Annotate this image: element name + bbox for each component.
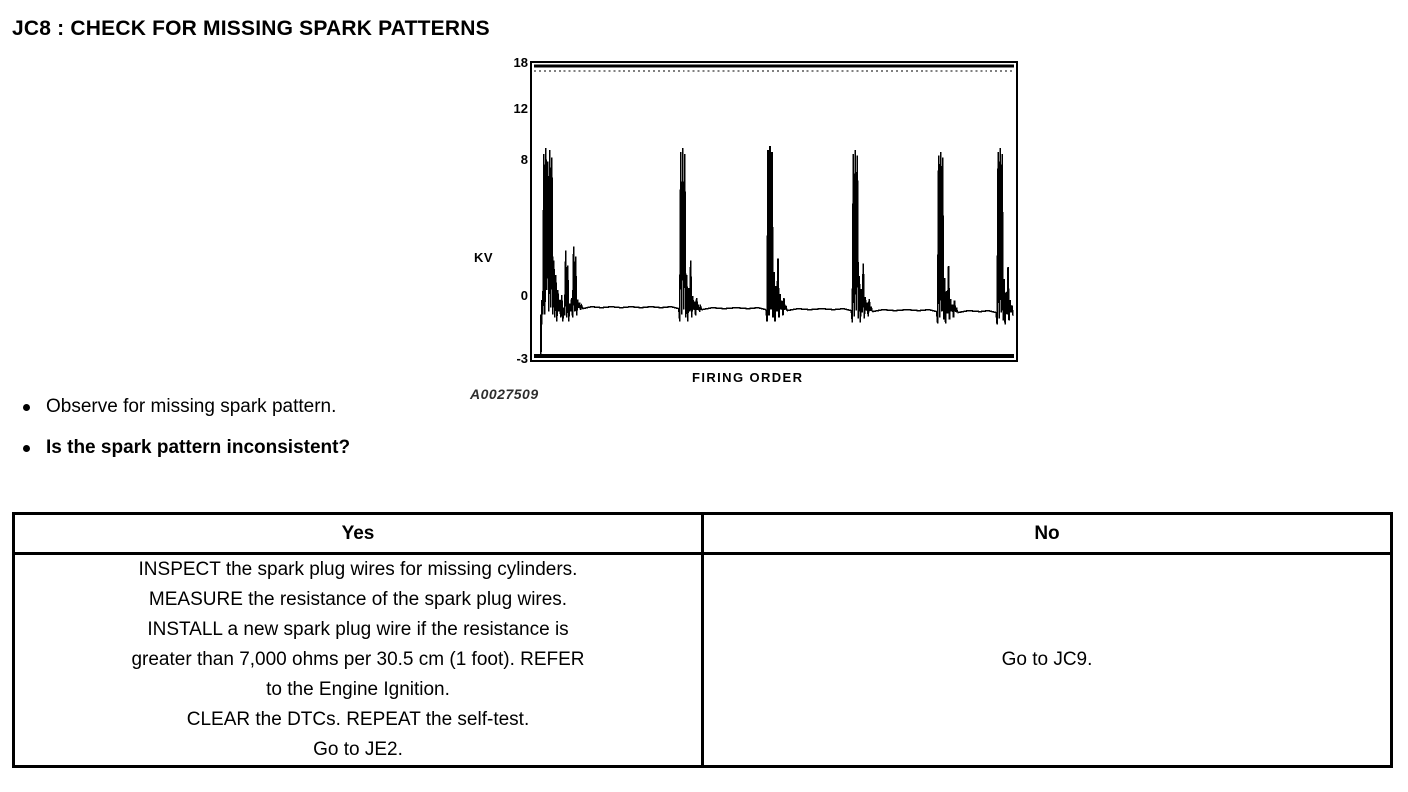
column-header-yes: Yes	[14, 514, 703, 554]
table-row: INSPECT the spark plug wires for missing…	[14, 554, 1392, 767]
spark-waveform-svg	[532, 63, 1016, 360]
yes-action-line-3: INSTALL a new spark plug wire if the res…	[15, 615, 701, 645]
spark-pattern-figure: 18 12 8 0 -3 KV	[462, 52, 1022, 397]
yes-action-line-1: INSPECT the spark plug wires for missing…	[15, 555, 701, 585]
list-item: Observe for missing spark pattern.	[12, 386, 482, 427]
yes-action-line-7: Go to JE2.	[15, 735, 701, 765]
y-tick-label-12: 12	[484, 102, 528, 115]
yes-action-line-4: greater than 7,000 ohms per 30.5 cm (1 f…	[15, 645, 701, 675]
oscilloscope-plot-area	[530, 61, 1018, 362]
bullet-icon	[23, 445, 30, 452]
step-text: Observe for missing spark pattern.	[46, 396, 336, 417]
yes-action-line-2: MEASURE the resistance of the spark plug…	[15, 585, 701, 615]
no-action-cell: Go to JC9.	[703, 554, 1392, 767]
y-tick-label-0: 0	[484, 289, 528, 302]
table-header-row: Yes No	[14, 514, 1392, 554]
y-tick-label-18: 18	[484, 56, 528, 69]
decision-table: Yes No INSPECT the spark plug wires for …	[12, 512, 1393, 768]
diagnostic-steps-list: Observe for missing spark pattern. Is th…	[12, 386, 482, 468]
y-tick-label-8: 8	[484, 153, 528, 166]
y-axis-tick-labels: 18 12 8 0 -3	[472, 52, 528, 371]
x-axis-title: FIRING ORDER	[692, 370, 803, 385]
bullet-icon	[23, 404, 30, 411]
yes-action-line-5: to the Engine Ignition.	[15, 675, 701, 705]
step-question-text: Is the spark pattern inconsistent?	[46, 437, 350, 458]
column-header-no: No	[703, 514, 1392, 554]
yes-action-cell: INSPECT the spark plug wires for missing…	[14, 554, 703, 767]
list-item: Is the spark pattern inconsistent?	[12, 427, 482, 468]
yes-action-line-6: CLEAR the DTCs. REPEAT the self-test.	[15, 705, 701, 735]
y-axis-title: KV	[474, 250, 493, 265]
page-title: JC8 : CHECK FOR MISSING SPARK PATTERNS	[12, 17, 490, 41]
y-tick-label-neg3: -3	[484, 352, 528, 365]
